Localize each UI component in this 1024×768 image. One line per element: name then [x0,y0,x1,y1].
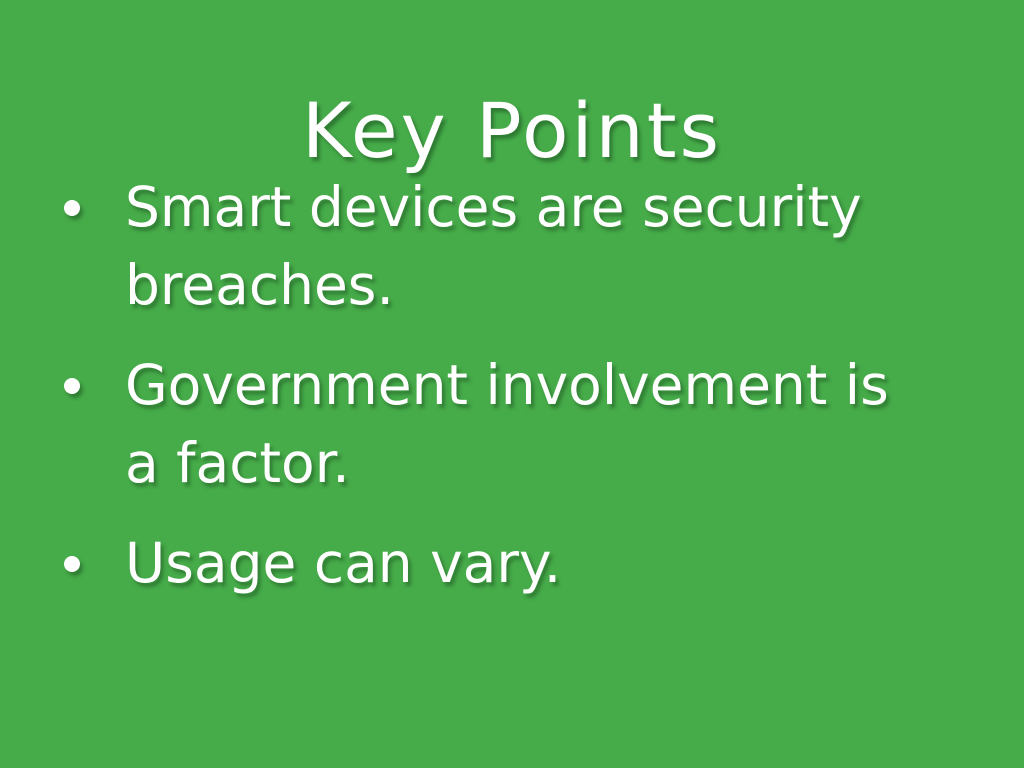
presentation-slide: Key Points Smart devices are security br… [0,0,1024,768]
bullet-dot-icon [64,378,80,394]
list-item-label: Government involvement is a factor. [125,346,925,502]
list-item-label: Usage can vary. [125,524,925,602]
list-item: Usage can vary. [55,524,975,602]
list-item: Smart devices are security breaches. [55,168,975,324]
bullet-dot-icon [64,200,80,216]
slide-title: Key Points [0,93,1024,169]
bullet-dot-icon [64,556,80,572]
list-item-label: Smart devices are security breaches. [125,168,925,324]
bullet-list: Smart devices are security breaches. Gov… [55,168,975,602]
list-item: Government involvement is a factor. [55,346,975,502]
